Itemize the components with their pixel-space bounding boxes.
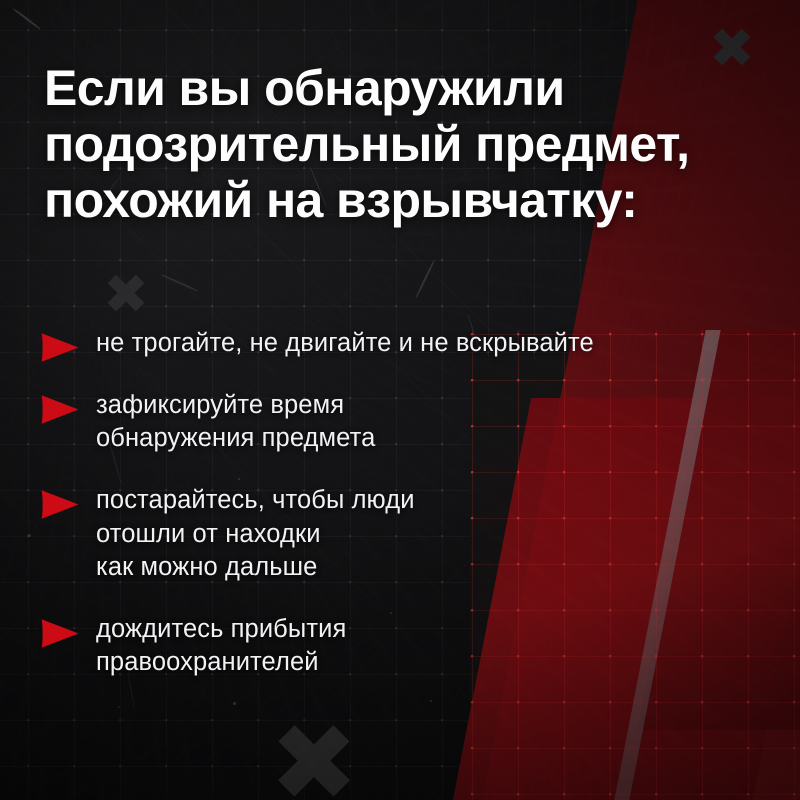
infographic-poster: Если вы обнаружили подозрительный предме… — [0, 0, 800, 800]
list-item-label: дождитесь прибытия правоохранителей — [96, 613, 738, 679]
arrow-right-icon — [40, 394, 80, 425]
list-item-label: постарайтесь, чтобы люди отошли от наход… — [96, 484, 738, 583]
content-layer: Если вы обнаружили подозрительный предме… — [0, 0, 800, 800]
list-item: не трогайте, не двигайте и не вскрывайте — [38, 327, 738, 360]
arrow-right-icon — [40, 332, 80, 363]
list-item-label: зафиксируйте время обнаружения предмета — [96, 389, 738, 455]
list-item: дождитесь прибытия правоохранителей — [38, 613, 738, 679]
arrow-right-icon — [40, 618, 80, 649]
list-item-label: не трогайте, не двигайте и не вскрывайте — [96, 327, 738, 360]
poster-headline: Если вы обнаружили подозрительный предме… — [44, 60, 764, 228]
list-item: постарайтесь, чтобы люди отошли от наход… — [38, 484, 738, 583]
instruction-list: не трогайте, не двигайте и не вскрывайте… — [38, 327, 738, 679]
list-item: зафиксируйте время обнаружения предмета — [38, 389, 738, 455]
arrow-right-icon — [40, 489, 80, 520]
